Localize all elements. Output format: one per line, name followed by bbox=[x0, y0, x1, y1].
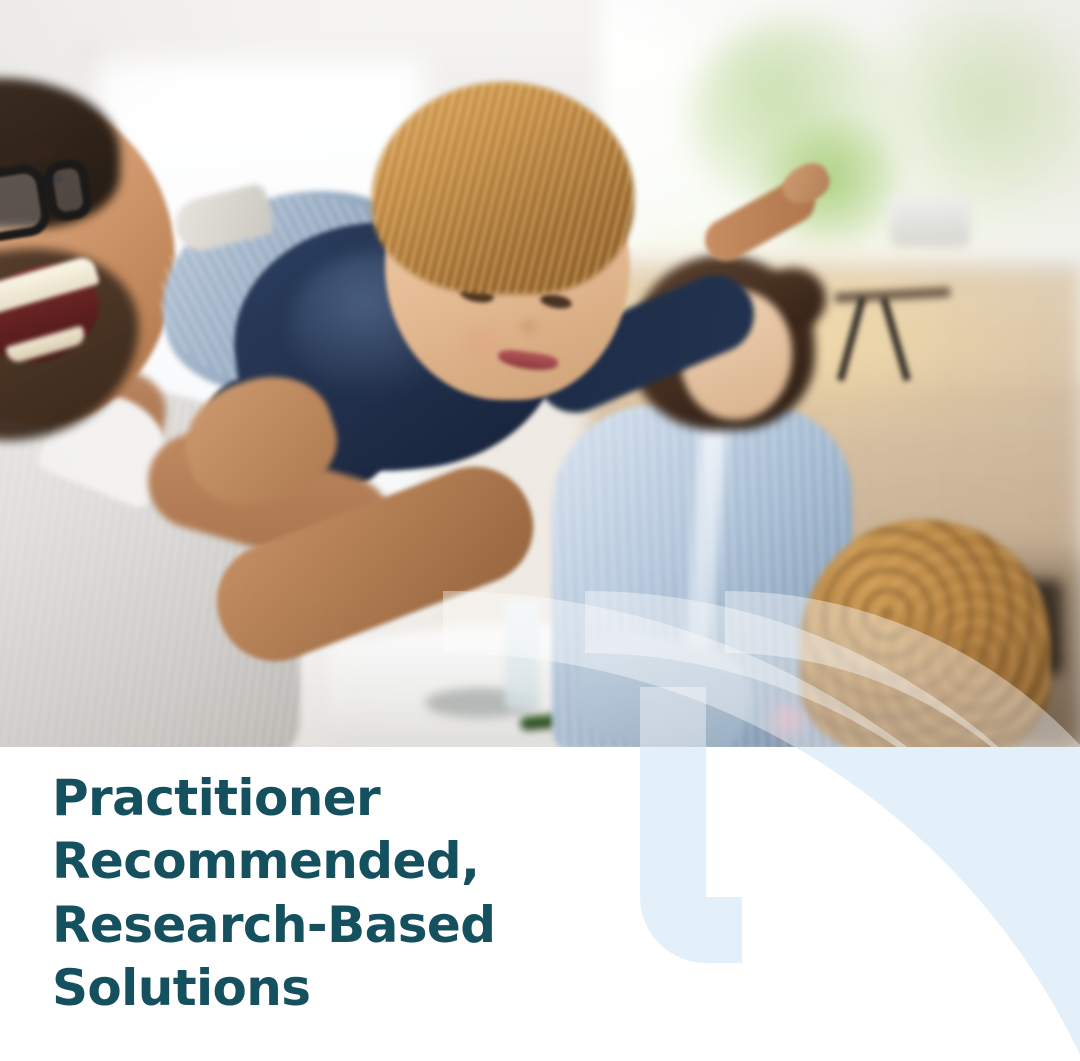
hero-card: Practitioner Recommended, Research-Based… bbox=[0, 0, 1080, 1061]
logo-hook-shape bbox=[640, 747, 742, 963]
planter-pot bbox=[890, 195, 970, 247]
hero-photo bbox=[0, 0, 1080, 747]
girl-curl-texture bbox=[800, 520, 1050, 747]
child-nose bbox=[518, 318, 544, 338]
drinking-glass bbox=[505, 600, 539, 710]
page-title: Practitioner Recommended, Research-Based… bbox=[52, 767, 612, 1020]
headline-panel: Practitioner Recommended, Research-Based… bbox=[0, 747, 1080, 1061]
pink-object-blur bbox=[760, 700, 816, 740]
